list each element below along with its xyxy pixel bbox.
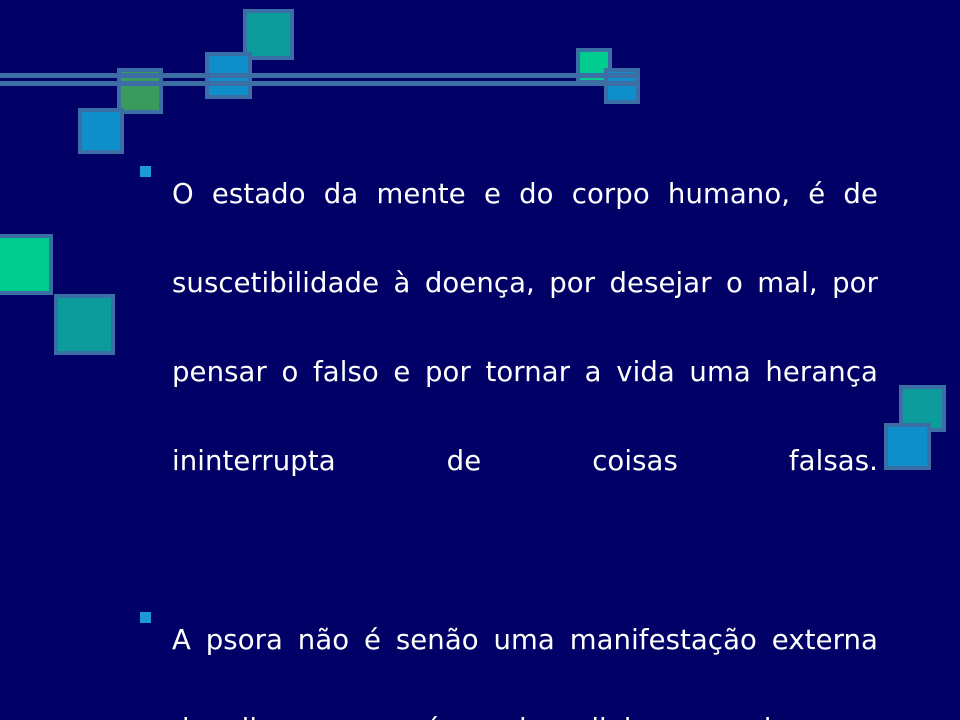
deco-square-teal-left-mid xyxy=(54,294,115,355)
square-bullet-icon xyxy=(140,612,151,623)
list-item-text: O estado da mente e do corpo humano, é d… xyxy=(172,178,878,477)
list-item-text: A psora não é senão uma manifestação ext… xyxy=(172,624,878,720)
slide-canvas: O estado da mente e do corpo humano, é d… xyxy=(0,0,960,720)
list-item: O estado da mente e do corpo humano, é d… xyxy=(138,150,878,595)
accent-line-upper xyxy=(0,73,640,78)
slide-body: O estado da mente e do corpo humano, é d… xyxy=(138,150,878,720)
deco-square-spring-left-mid xyxy=(0,234,53,295)
deco-square-blue-right-low xyxy=(884,423,931,470)
deco-square-blue-left xyxy=(78,108,124,154)
square-bullet-icon xyxy=(140,166,151,177)
list-item: A psora não é senão uma manifestação ext… xyxy=(138,596,878,720)
accent-line-lower xyxy=(0,81,640,86)
